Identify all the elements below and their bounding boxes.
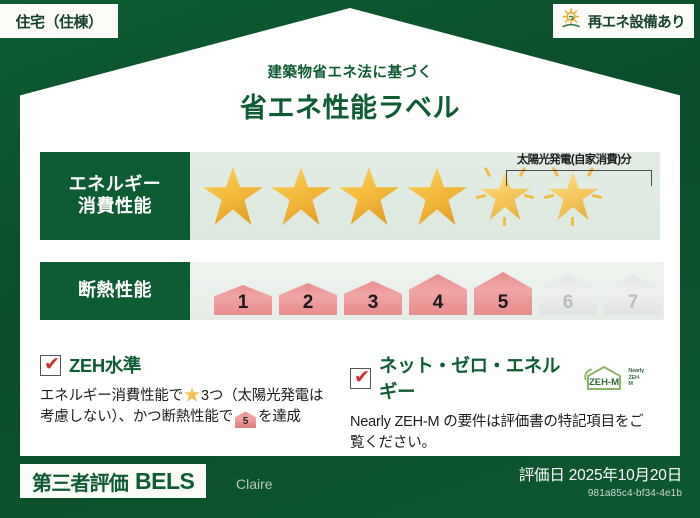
bels-en-label: BELS [135, 468, 194, 495]
star-icon [404, 159, 470, 233]
bels-jp-label: 第三者評価 [32, 467, 128, 496]
issuer-name: Claire [236, 476, 273, 492]
footer: 第三者評価 BELS Claire 評価日 2025年10月20日 981a85… [0, 456, 700, 518]
claim-nze-title: ネット・ゼロ・エネルギー [379, 352, 571, 404]
energy-star-scale: 太陽光発電(自家消費)分 [190, 152, 660, 240]
energy-performance-label-box: エネルギー 消費性能 [40, 152, 190, 240]
solar-bracket-label: 太陽光発電(自家消費)分 [496, 151, 652, 167]
zeh-m-sub-line1: Nearly [628, 368, 644, 375]
label-title-block: 建築物省エネ法に基づく 省エネ性能ラベル [0, 61, 700, 125]
insulation-level-house: 5 [472, 272, 534, 315]
insulation-level-number: 3 [368, 293, 379, 312]
page-title: 省エネ性能ラベル [0, 86, 700, 125]
insulation-level-number: 7 [628, 293, 639, 312]
star-icon [268, 159, 334, 233]
energy-performance-row: エネルギー 消費性能 [40, 152, 660, 240]
claim-zeh-header: ✔ ZEH水準 [40, 352, 334, 378]
insulation-level-number: 2 [303, 293, 314, 312]
insulation-level-scale: 1 2 3 [190, 262, 664, 320]
renewable-badge-label: 再エネ設備あり [588, 11, 685, 32]
checkbox-net-zero-energy[interactable]: ✔ [350, 368, 371, 389]
zeh-m-house-icon: ZEH-M [583, 365, 625, 391]
insulation-levels: 1 2 3 [212, 272, 664, 315]
check-icon: ✔ [44, 357, 58, 372]
inline-star-icon [184, 387, 200, 402]
insulation-level-house: 7 [602, 275, 664, 315]
insulation-level-house: 4 [407, 274, 469, 315]
claim-zeh-text-1: エネルギー消費性能で [40, 388, 183, 404]
insulation-performance-label-box: 断熱性能 [40, 262, 190, 320]
solar-bracket [506, 170, 652, 186]
star-icon [336, 159, 402, 233]
solar-sun-icon [559, 7, 583, 36]
claim-nze-header: ✔ ネット・ゼロ・エネルギー ZEH-M Nearly ZEH-M [350, 352, 644, 404]
insulation-level-house: 6 [537, 275, 599, 315]
claim-zeh-title: ZEH水準 [69, 352, 141, 378]
building-type-label: 住宅（住棟） [15, 11, 102, 32]
checkbox-zeh-standard[interactable]: ✔ [40, 355, 61, 376]
zeh-m-logo: ZEH-M Nearly ZEH-M [583, 365, 644, 391]
star-icon [200, 159, 266, 233]
insulation-level-house: 2 [277, 283, 339, 315]
bels-certification-tag: 第三者評価 BELS [20, 464, 206, 498]
claim-zeh-body: エネルギー消費性能で3つ（太陽光発電は考慮しない）、かつ断熱性能で5を達成 [40, 386, 334, 429]
footer-right-block: 評価日 2025年10月20日 981a85c4-bf34-4e1b [519, 463, 682, 499]
insulation-level-house: 1 [212, 285, 274, 315]
zeh-m-sub-line2: ZEH-M [628, 375, 644, 389]
energy-label-line2: 消費性能 [78, 196, 152, 218]
certificate-id: 981a85c4-bf34-4e1b [519, 488, 682, 499]
energy-performance-label: 住宅（住棟） 再エネ設備あり [0, 0, 700, 518]
claim-zeh-text-3: を達成 [258, 409, 301, 425]
insulation-level-house: 3 [342, 281, 404, 315]
insulation-level-number: 4 [433, 293, 444, 312]
evaluation-date: 評価日 2025年10月20日 [519, 463, 682, 485]
insulation-label: 断熱性能 [78, 280, 152, 302]
claim-zeh-standard: ✔ ZEH水準 エネルギー消費性能で3つ（太陽光発電は考慮しない）、かつ断熱性能… [40, 352, 350, 455]
claim-nze-body: Nearly ZEH-M の要件は評価書の特記項目をご覧ください。 [350, 412, 644, 455]
insulation-level-number: 6 [563, 293, 574, 312]
building-type-tag: 住宅（住棟） [0, 4, 118, 38]
insulation-level-number: 1 [238, 293, 249, 312]
insulation-performance-row: 断熱性能 1 2 3 [40, 262, 660, 320]
title-subtitle: 建築物省エネ法に基づく [0, 61, 700, 82]
renewable-energy-badge: 再エネ設備あり [553, 4, 694, 38]
energy-label-line1: エネルギー [69, 174, 162, 196]
zeh-m-sublabel: Nearly ZEH-M [628, 368, 644, 389]
claim-net-zero-energy: ✔ ネット・ゼロ・エネルギー ZEH-M Nearly ZEH-M [350, 352, 660, 455]
insulation-level-number: 5 [498, 293, 509, 312]
claims-section: ✔ ZEH水準 エネルギー消費性能で3つ（太陽光発電は考慮しない）、かつ断熱性能… [40, 352, 660, 455]
svg-text:ZEH-M: ZEH-M [589, 377, 619, 388]
check-icon: ✔ [354, 370, 368, 385]
inline-house-icon: 5 [235, 411, 256, 428]
